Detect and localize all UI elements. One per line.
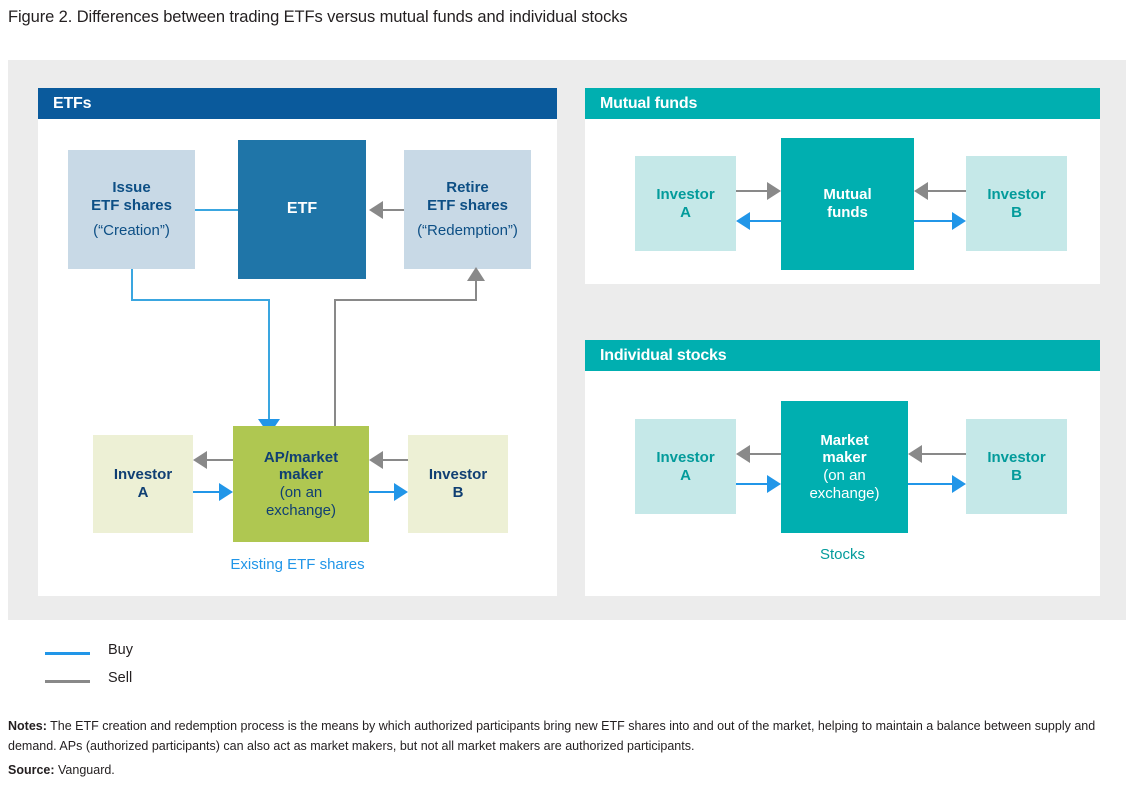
- footer-notes: Notes: The ETF creation and redemption p…: [8, 716, 1126, 780]
- box-stk-investor-b: Investor B: [966, 419, 1067, 514]
- etf-investor-a-line1: Investor: [114, 466, 172, 484]
- ap-line1: AP/market: [264, 449, 338, 467]
- arrow-ap-buy-to-b-head: [394, 483, 408, 501]
- stk-center-line4: exchange): [809, 485, 879, 503]
- ap-line2: maker: [279, 466, 323, 484]
- box-mf-investor-b: Investor B: [966, 156, 1067, 251]
- connector-stk-a-sell: [749, 453, 781, 455]
- source-text: Vanguard.: [55, 763, 115, 777]
- box-etf: ETF: [238, 140, 366, 279]
- diagram-frame: ETFs Issue ETF shares (“Creation”) ETF R…: [8, 60, 1126, 620]
- source-label: Source:: [8, 763, 55, 777]
- mf-center-line1: Mutual: [823, 186, 871, 204]
- arrow-b-sell-to-ap-head: [369, 451, 383, 469]
- connector-mf-a-sell: [736, 190, 768, 192]
- connector-redemption-seg3: [475, 279, 477, 301]
- box-retire-line1: Retire: [446, 179, 489, 197]
- arrow-stk-a-buy-head: [767, 475, 781, 493]
- connector-redemption-seg1: [334, 299, 336, 435]
- arrow-stk-b-buy-head: [952, 475, 966, 493]
- connector-stk-a-buy: [736, 483, 768, 485]
- connector-mf-a-buy: [749, 220, 781, 222]
- mf-investor-a-line1: Investor: [656, 186, 714, 204]
- box-retire-line2: ETF shares: [427, 197, 508, 215]
- ap-line4: exchange): [266, 502, 336, 520]
- notes-paragraph: Notes: The ETF creation and redemption p…: [8, 716, 1126, 757]
- mf-investor-b-line2: B: [1011, 204, 1022, 222]
- ap-line3: (on an: [280, 484, 323, 502]
- etf-investor-b-line1: Investor: [429, 466, 487, 484]
- connector-a-buy-to-ap: [193, 491, 220, 493]
- mf-investor-b-line1: Investor: [987, 186, 1045, 204]
- stk-investor-b-line1: Investor: [987, 449, 1045, 467]
- arrow-ap-sell-to-a-head: [193, 451, 207, 469]
- arrow-mf-b-sell-head: [914, 182, 928, 200]
- legend-label-sell: Sell: [108, 670, 132, 686]
- mf-center-line2: funds: [827, 204, 868, 222]
- arrow-a-buy-to-ap-head: [219, 483, 233, 501]
- stk-investor-a-line1: Investor: [656, 449, 714, 467]
- box-retire-line3: (“Redemption”): [417, 222, 518, 240]
- box-issue-line3: (“Creation”): [93, 222, 170, 240]
- connector-stk-b-sell: [921, 453, 966, 455]
- connector-creation-seg1: [131, 269, 133, 301]
- stk-investor-a-line2: A: [680, 467, 691, 485]
- box-market-maker: Market maker (on an exchange): [781, 401, 908, 533]
- box-etf-investor-b: Investor B: [408, 435, 508, 533]
- legend-swatch-sell: [45, 680, 90, 683]
- box-mf-investor-a: Investor A: [635, 156, 736, 251]
- caption-stocks: Stocks: [585, 546, 1100, 563]
- mf-investor-a-line2: A: [680, 204, 691, 222]
- panel-mutual-funds-header: Mutual funds: [585, 88, 1100, 119]
- panel-etfs: ETFs Issue ETF shares (“Creation”) ETF R…: [38, 88, 557, 596]
- panel-individual-stocks-header: Individual stocks: [585, 340, 1100, 371]
- box-ap-market-maker: AP/market maker (on an exchange): [233, 426, 369, 542]
- box-issue-etf-shares: Issue ETF shares (“Creation”): [68, 150, 195, 269]
- box-issue-line2: ETF shares: [91, 197, 172, 215]
- stk-center-line2: maker: [822, 449, 866, 467]
- connector-stk-b-buy: [908, 483, 953, 485]
- stk-center-line1: Market: [820, 432, 868, 450]
- arrow-redemption-head: [467, 267, 485, 281]
- stk-investor-b-line2: B: [1011, 467, 1022, 485]
- caption-existing-etf-shares: Existing ETF shares: [38, 556, 557, 573]
- box-stk-investor-a: Investor A: [635, 419, 736, 514]
- panel-etfs-header: ETFs: [38, 88, 557, 119]
- box-mutual-funds: Mutual funds: [781, 138, 914, 270]
- panel-individual-stocks: Individual stocks Investor A Market make…: [585, 340, 1100, 596]
- connector-creation-seg3: [268, 299, 270, 425]
- source-paragraph: Source: Vanguard.: [8, 760, 1126, 780]
- connector-ap-sell-to-a: [206, 459, 233, 461]
- panel-etfs-body: Issue ETF shares (“Creation”) ETF Retire…: [38, 119, 557, 596]
- arrow-stk-b-sell-head: [908, 445, 922, 463]
- box-etf-label: ETF: [287, 200, 317, 219]
- notes-label: Notes:: [8, 719, 47, 733]
- connector-b-sell-to-ap: [382, 459, 408, 461]
- notes-text: The ETF creation and redemption process …: [8, 719, 1095, 753]
- connector-creation-seg2: [131, 299, 270, 301]
- stk-center-line3: (on an: [823, 467, 866, 485]
- arrow-stk-a-sell-head: [736, 445, 750, 463]
- legend-label-buy: Buy: [108, 642, 133, 658]
- panel-mutual-funds: Mutual funds Investor A Mutual funds Inv…: [585, 88, 1100, 284]
- etf-investor-b-line2: B: [453, 484, 464, 502]
- connector-issue-to-etf: [195, 209, 238, 211]
- arrow-mf-a-buy-head: [736, 212, 750, 230]
- box-etf-investor-a: Investor A: [93, 435, 193, 533]
- connector-retire-to-etf: [383, 209, 404, 211]
- arrow-mf-b-buy-head: [952, 212, 966, 230]
- etf-investor-a-line2: A: [138, 484, 149, 502]
- figure-title: Figure 2. Differences between trading ET…: [8, 8, 628, 27]
- panel-individual-stocks-body: Investor A Market maker (on an exchange)…: [585, 371, 1100, 596]
- connector-mf-b-buy: [914, 220, 953, 222]
- legend-swatch-buy: [45, 652, 90, 655]
- arrow-retire-to-etf-head: [369, 201, 383, 219]
- connector-redemption-seg2: [334, 299, 477, 301]
- connector-ap-buy-to-b: [369, 491, 395, 493]
- box-issue-line1: Issue: [112, 179, 150, 197]
- arrow-mf-a-sell-head: [767, 182, 781, 200]
- connector-mf-b-sell: [927, 190, 966, 192]
- panel-mutual-funds-body: Investor A Mutual funds Investor B: [585, 119, 1100, 284]
- box-retire-etf-shares: Retire ETF shares (“Redemption”): [404, 150, 531, 269]
